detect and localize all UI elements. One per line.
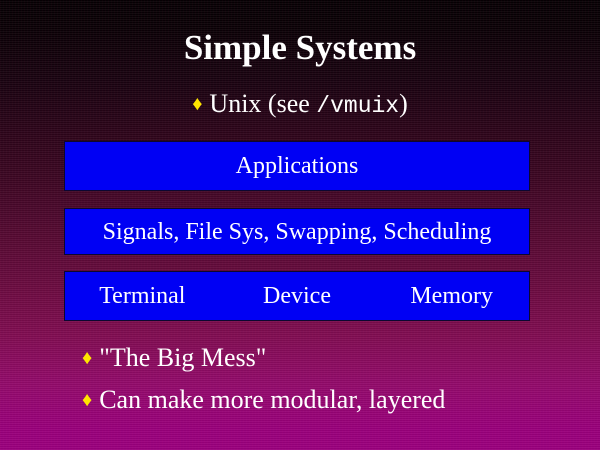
bullet-item-unix: ♦Unix (see /vmuix) [0,88,600,122]
slide-title: Simple Systems [0,26,600,70]
bullet-text-modular: Can make more modular, layered [99,385,445,414]
layer-label-terminal: Terminal [65,282,220,310]
layer-box-device-drivers: Terminal Device Memory [64,271,530,321]
bullet-item-big-mess: ♦"The Big Mess" [82,342,266,374]
layer-box-applications: Applications [64,141,530,191]
presentation-slide: Simple Systems ♦Unix (see /vmuix) Applic… [0,0,600,450]
layer-label-memory: Memory [374,282,529,310]
bullet-text-prefix: Unix (see [209,89,316,118]
diamond-bullet-icon: ♦ [192,93,202,115]
layer-label-device: Device [220,282,375,310]
layer-label-applications: Applications [236,152,359,180]
diamond-bullet-icon: ♦ [82,389,92,411]
bullet-text-big-mess: "The Big Mess" [99,343,266,372]
bullet-text-path: /vmuix [316,93,399,119]
bullet-item-modular: ♦Can make more modular, layered [82,384,445,416]
layer-label-kernel-services: Signals, File Sys, Swapping, Scheduling [103,218,492,246]
bullet-text-suffix: ) [399,89,408,118]
layer-box-kernel-services: Signals, File Sys, Swapping, Scheduling [64,208,530,255]
diamond-bullet-icon: ♦ [82,347,92,369]
